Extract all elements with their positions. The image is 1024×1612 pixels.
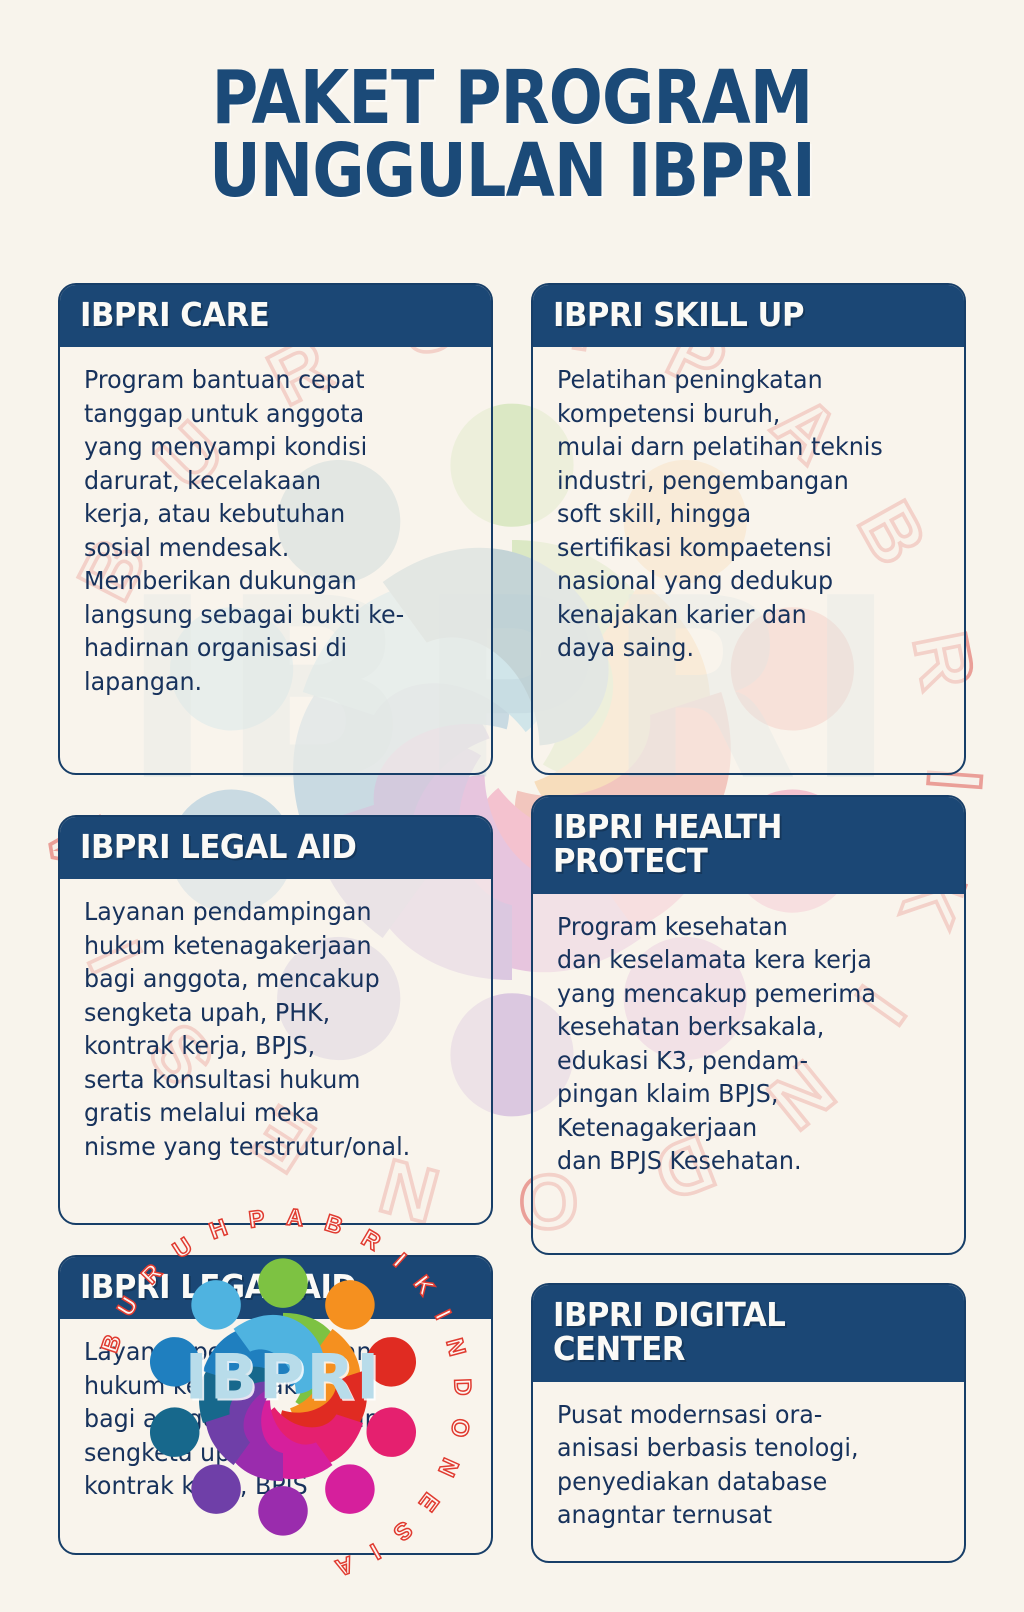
card-body-ibpri-care: Program bantuan cepat tanggap untuk angg…	[60, 347, 491, 716]
card-ibpri-skill-up[interactable]: IBPRI SKILL UP Pelatihan peningkatan kom…	[531, 283, 966, 775]
card-text-ibpri-care: Program bantuan cepat tanggap untuk angg…	[84, 363, 450, 698]
page-title-line-2: UNGGULAN IBPRI	[72, 135, 953, 208]
card-ibpri-digital-center[interactable]: IBPRI DIGITAL CENTER Pusat modernsasi or…	[531, 1283, 966, 1563]
card-header-ibpri-legal-aid-2: IBPRI LEGAL AID	[60, 1257, 491, 1319]
page-title-line-1: PAKET PROGRAM	[72, 62, 953, 135]
card-header-ibpri-skill-up: IBPRI SKILL UP	[533, 285, 964, 347]
card-title-ibpri-care: IBPRI CARE	[80, 298, 444, 332]
card-ibpri-health-protect[interactable]: IBPRI HEALTH PROTECT Program kesehatan d…	[531, 795, 966, 1255]
page-title: PAKET PROGRAM UNGGULAN IBPRI	[0, 62, 1024, 207]
card-ibpri-legal-aid-2[interactable]: IBPRI LEGAL AID Layanan pendampingan huk…	[58, 1255, 493, 1555]
card-title-ibpri-digital-center: IBPRI DIGITAL CENTER	[553, 1298, 917, 1367]
card-header-ibpri-digital-center: IBPRI DIGITAL CENTER	[533, 1285, 964, 1382]
card-ibpri-care[interactable]: IBPRI CARE Program bantuan cepat tanggap…	[58, 283, 493, 775]
card-body-ibpri-health-protect: Program kesehatan dan keselamata kera ke…	[533, 894, 964, 1196]
card-title-ibpri-legal-aid-2: IBPRI LEGAL AID	[80, 1270, 444, 1304]
card-body-ibpri-skill-up: Pelatihan peningkatan kompetensi buruh, …	[533, 347, 964, 683]
card-title-ibpri-legal-aid: IBPRI LEGAL AID	[80, 830, 444, 864]
card-ibpri-legal-aid[interactable]: IBPRI LEGAL AID Layanan pendampingan huk…	[58, 815, 493, 1225]
card-body-ibpri-digital-center: Pusat modernsasi ora- anisasi berbasis t…	[533, 1382, 964, 1550]
card-text-ibpri-legal-aid-2: Layanan pendampingan hukum ketenagakerja…	[84, 1335, 450, 1503]
card-header-ibpri-care: IBPRI CARE	[60, 285, 491, 347]
card-header-ibpri-health-protect: IBPRI HEALTH PROTECT	[533, 797, 964, 894]
card-text-ibpri-legal-aid: Layanan pendampingan hukum ketenagakerja…	[84, 895, 450, 1163]
card-text-ibpri-skill-up: Pelatihan peningkatan kompetensi buruh, …	[557, 363, 923, 665]
card-title-ibpri-skill-up: IBPRI SKILL UP	[553, 298, 917, 332]
card-header-ibpri-legal-aid: IBPRI LEGAL AID	[60, 817, 491, 879]
card-title-ibpri-health-protect: IBPRI HEALTH PROTECT	[553, 810, 917, 879]
card-body-ibpri-legal-aid-2: Layanan pendampingan hukum ketenagakerja…	[60, 1319, 491, 1521]
card-text-ibpri-health-protect: Program kesehatan dan keselamata kera ke…	[557, 910, 923, 1178]
card-text-ibpri-digital-center: Pusat modernsasi ora- anisasi berbasis t…	[557, 1398, 923, 1532]
card-body-ibpri-legal-aid: Layanan pendampingan hukum ketenagakerja…	[60, 879, 491, 1181]
